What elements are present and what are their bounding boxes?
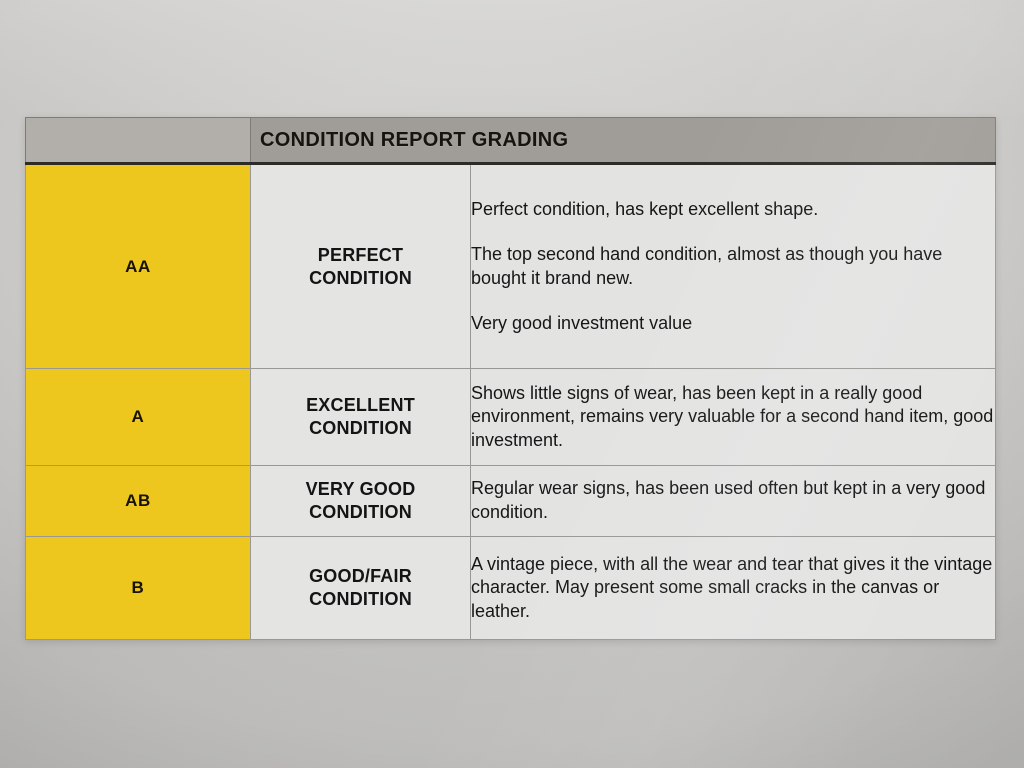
table-row: A EXCELLENT CONDITION Shows little signs… <box>26 369 996 465</box>
condition-label-line-2: CONDITION <box>251 588 470 611</box>
condition-label-aa: PERFECT CONDITION <box>251 164 471 369</box>
condition-label-a: EXCELLENT CONDITION <box>251 369 471 465</box>
table-row: AA PERFECT CONDITION Perfect condition, … <box>26 164 996 369</box>
grade-code-ab: AB <box>26 465 251 536</box>
table-row: AB VERY GOOD CONDITION Regular wear sign… <box>26 465 996 536</box>
table-row: B GOOD/FAIR CONDITION A vintage piece, w… <box>26 536 996 639</box>
condition-label-line-1: GOOD/FAIR <box>251 565 470 588</box>
condition-label-line-2: CONDITION <box>251 267 470 290</box>
description-paragraph: Regular wear signs, has been used often … <box>471 477 995 524</box>
table-header-row: CONDITION REPORT GRADING <box>26 118 996 164</box>
condition-label-line-2: CONDITION <box>251 417 470 440</box>
description-paragraph: Perfect condition, has kept excellent sh… <box>471 198 995 221</box>
description-paragraph: Shows little signs of wear, has been kep… <box>471 382 995 452</box>
condition-label-ab: VERY GOOD CONDITION <box>251 465 471 536</box>
description-paragraph: The top second hand condition, almost as… <box>471 243 995 290</box>
condition-label-line-2: CONDITION <box>251 501 470 524</box>
condition-report-grading-table: CONDITION REPORT GRADING AA PERFECT COND… <box>25 117 996 640</box>
grade-code-aa: AA <box>26 164 251 369</box>
header-blank-cell <box>26 118 251 164</box>
condition-label-line-1: VERY GOOD <box>251 478 470 501</box>
description-a: Shows little signs of wear, has been kep… <box>471 369 996 465</box>
condition-label-line-1: PERFECT <box>251 244 470 267</box>
description-aa: Perfect condition, has kept excellent sh… <box>471 164 996 369</box>
page-title: CONDITION REPORT GRADING <box>251 129 995 152</box>
header-title-cell: CONDITION REPORT GRADING <box>251 118 996 164</box>
description-paragraph: Very good investment value <box>471 312 995 335</box>
condition-label-b: GOOD/FAIR CONDITION <box>251 536 471 639</box>
grade-code-a: A <box>26 369 251 465</box>
condition-label-line-1: EXCELLENT <box>251 394 470 417</box>
description-paragraph: A vintage piece, with all the wear and t… <box>471 553 995 623</box>
description-ab: Regular wear signs, has been used often … <box>471 465 996 536</box>
description-b: A vintage piece, with all the wear and t… <box>471 536 996 639</box>
grade-code-b: B <box>26 536 251 639</box>
